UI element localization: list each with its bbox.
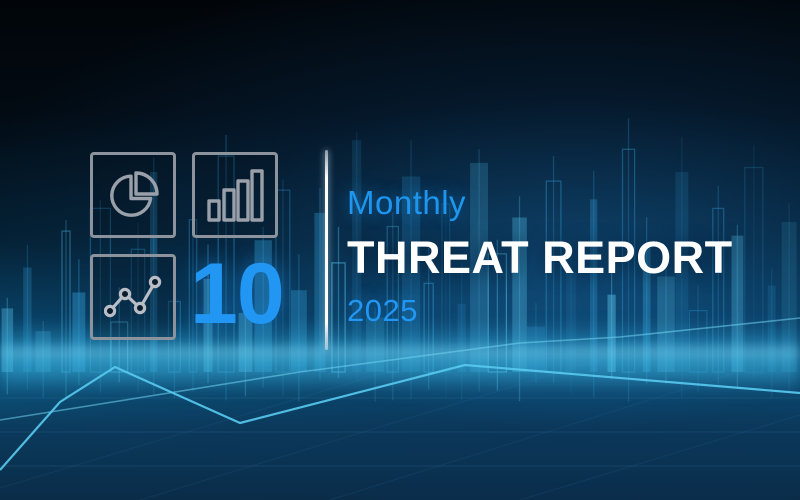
bar-chart-icon-box [192, 152, 278, 238]
year-subtitle: 2025 [347, 295, 733, 326]
issue-number: 10 [190, 248, 278, 340]
vertical-divider [325, 150, 328, 350]
threat-report-cover: 10 Monthly THREAT REPORT 2025 [0, 0, 800, 500]
pie-chart-icon-box [90, 152, 176, 238]
kicker-text: Monthly [347, 186, 733, 219]
page-title: THREAT REPORT [347, 235, 733, 280]
title-block: Monthly THREAT REPORT 2025 [347, 186, 733, 326]
line-chart-icon-box [90, 254, 176, 340]
icon-grid: 10 [90, 152, 278, 340]
horizon-glow-core [0, 344, 800, 360]
